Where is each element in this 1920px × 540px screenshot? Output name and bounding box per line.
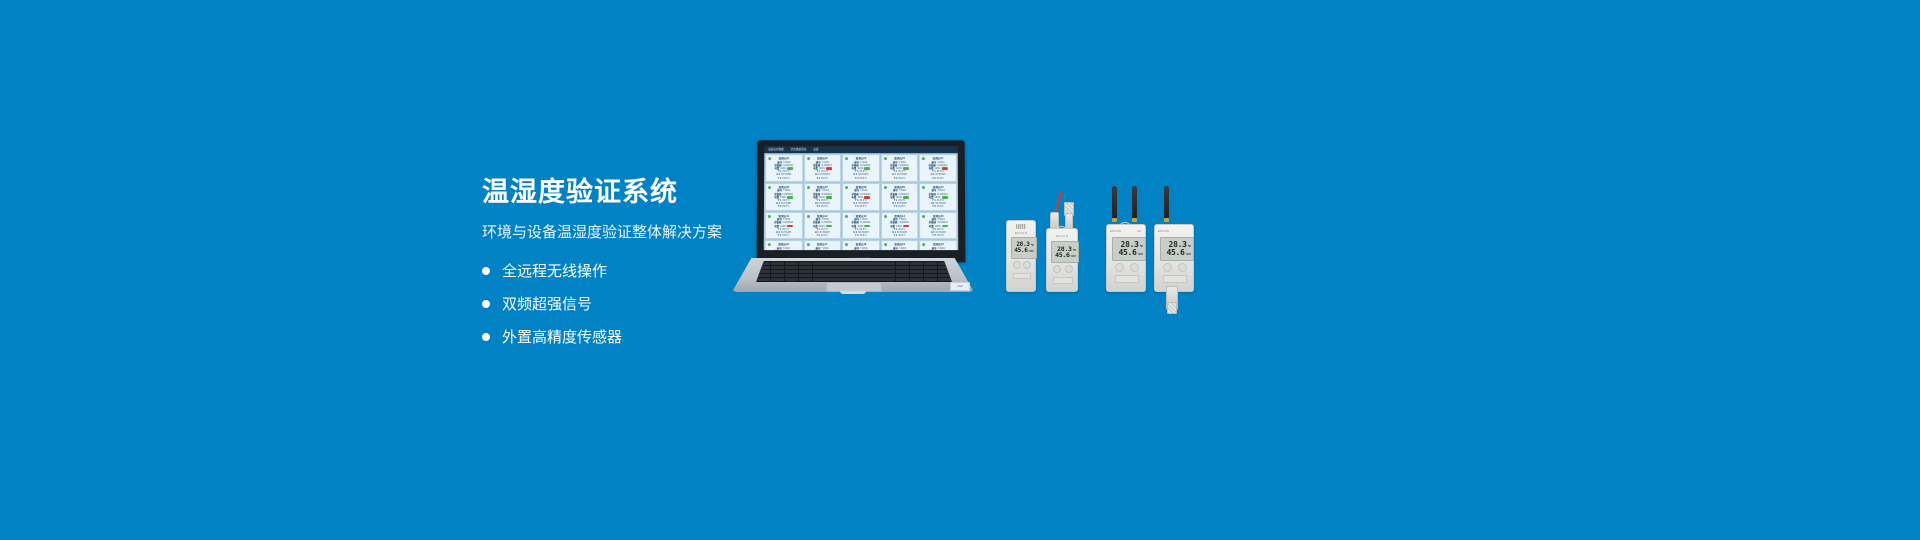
keyboard-key[interactable] [785,278,798,281]
bullet-dot-icon [482,300,490,308]
keyboard-key[interactable] [924,266,937,269]
monitor-card[interactable]: 监测点08编号T-0001采集器YL000001电量100%T 125.6℃H … [842,183,880,211]
monitor-card-key: T 2 [817,177,820,180]
keyboard-key[interactable] [924,270,937,273]
monitor-card[interactable]: 监测点15编号T-0001采集器YL000001电量100%T 125.6℃H … [919,212,957,240]
monitor-card[interactable]: 监测点10编号T-0001采集器YL000001电量100%T 125.6℃H … [919,183,957,211]
device-power-button[interactable] [1115,263,1124,272]
keyboard-key[interactable] [840,278,853,281]
monitor-card-row: T 225.8℃ [807,177,839,180]
antenna-right-icon [1132,186,1137,220]
device-power-button[interactable] [1053,265,1061,273]
device-mode-button[interactable] [1178,263,1187,272]
monitor-card-value: 25.8℃ [860,234,867,237]
status-dot-icon [884,215,887,218]
menu-item-settings[interactable]: 设置 [811,146,820,153]
device-brand-label: ENCON [1110,229,1121,233]
keyboard-key[interactable] [785,274,798,277]
keyboard-key[interactable] [868,266,881,269]
device-wireless-probe-body: ENCON 28.3 ℃ 45.6 %RH [1154,224,1194,292]
keyboard-key[interactable] [910,270,923,273]
monitor-card[interactable]: 监测点14编号T-0001采集器YL000001电量100%T 125.6℃H … [881,212,919,240]
keyboard-key[interactable] [771,274,784,277]
monitor-card-value: 25.8℃ [898,205,905,208]
keyboard-key[interactable] [799,262,812,265]
monitor-card-row: T 225.8℃ [922,177,954,180]
status-dot-icon [807,215,810,218]
status-dot-icon [884,157,887,160]
monitor-card-row: T 225.8℃ [768,177,800,180]
monitor-card[interactable]: 监测点07编号T-0001采集器YL000001电量100%T 125.6℃H … [804,183,842,211]
monitor-card-row: T 225.8℃ [922,205,954,208]
monitor-card[interactable]: 监测点11编号T-0001采集器YL000001电量100%T 125.6℃H … [765,212,803,240]
antenna-left-base [1112,218,1117,222]
device-model-label: A5 [1137,229,1141,233]
menu-item-history[interactable]: 历史数据查询 [789,146,809,153]
device-label-strip [1163,275,1187,283]
keyboard-key[interactable] [924,278,937,281]
laptop-screen: 设备实时数据 历史数据查询 设置 监测点01编号T-0001采集器YL00000… [764,146,959,250]
device-lcd-display: 28.3 ℃ 45.6 %RH [1160,237,1194,261]
keyboard-key[interactable] [910,274,923,277]
device-wireless-dual-body: ENCON A5 28.3 ℃ 45.6 %RH [1106,224,1146,292]
keyboard-key[interactable] [854,262,867,265]
monitor-card[interactable]: 监测点06编号T-0001采集器YL000001电量100%T 125.6℃H … [765,183,803,211]
lcd-humidity-unit: %RH [1186,253,1191,256]
keyboard-key[interactable] [924,274,937,277]
status-dot-icon [768,186,771,189]
monitor-card-key: T 2 [932,234,935,237]
keyboard-key[interactable] [854,266,867,269]
monitor-card[interactable]: 监测点03编号T-0001采集器YL000001电量100%T 125.6℃H … [842,154,880,182]
antenna-left-icon [1112,186,1117,220]
list-item: 外置高精度传感器 [482,330,902,345]
bullet-dot-icon [482,267,490,275]
monitor-card-key: T 2 [855,177,858,180]
monitor-card[interactable]: 监测点13编号T-0001采集器YL000001电量100%T 125.6℃H … [842,212,880,240]
status-dot-icon [768,157,771,160]
monitor-card-value: 25.8℃ [782,205,789,208]
keyboard-key[interactable] [896,266,909,269]
keyboard-key[interactable] [799,274,812,277]
monitor-card[interactable]: 监测点20编号T-0001采集器YL000001电量100%T 125.6℃H … [920,241,958,251]
lcd-humidity-unit: %RH [1029,250,1034,253]
monitor-card-row: T 225.8℃ [884,205,916,208]
monitor-card[interactable]: 监测点12编号T-0001采集器YL000001电量100%T 125.6℃H … [803,212,841,240]
device-lcd-display: 28.3 ℃ 45.6 %RH [1011,237,1037,259]
device-mode-button[interactable] [1130,263,1139,272]
keyboard-key[interactable] [799,266,812,269]
lcd-humidity-line: 45.6 %RH [1054,252,1076,259]
keyboard-key[interactable] [826,278,839,281]
keyboard-key[interactable] [785,266,798,269]
feature-label: 外置高精度传感器 [502,330,622,345]
status-dot-icon [768,215,771,218]
monitor-card-key: T 2 [932,205,935,208]
keyboard-key[interactable] [785,270,798,273]
lcd-temperature-unit: ℃ [1031,244,1034,247]
lcd-humidity-line: 45.6 %RH [1115,249,1143,257]
monitor-card[interactable]: 监测点18编号T-0001采集器YL000001电量100%T 125.6℃H … [842,241,880,251]
keyboard-key[interactable] [826,270,839,273]
monitor-card-key: T 2 [816,205,819,208]
monitor-card-value: 25.8℃ [782,177,789,180]
keyboard-key[interactable] [826,274,839,277]
keyboard-key[interactable] [910,278,923,281]
sensor-device-group: ENCON 28.3 ℃ 45.6 %RH E [1002,186,1222,306]
device-brand-label: ENCON [1158,229,1169,233]
keyboard-key[interactable] [799,278,812,281]
keyboard-key[interactable] [896,262,909,265]
device-lcd-display: 28.3 ℃ 45.6 %RH [1112,237,1146,261]
monitor-card-key: T 2 [894,234,897,237]
keyboard-key[interactable] [882,262,895,265]
status-dot-icon [845,186,848,189]
lcd-humidity-line: 45.6 %RH [1163,249,1191,257]
monitor-card[interactable]: 监测点17编号T-0001采集器YL000001电量100%T 125.6℃H … [803,241,841,251]
monitor-card-key: T 2 [778,205,781,208]
keyboard-key[interactable] [826,266,839,269]
monitor-card-value: 25.8℃ [860,205,867,208]
device-mode-button[interactable] [1023,261,1031,269]
laptop-base: intel [722,258,984,298]
monitor-card-row: T 225.8℃ [845,234,877,237]
feature-label: 双频超强信号 [502,297,592,312]
key-row [757,274,951,277]
device-power-button[interactable] [1163,263,1172,272]
monitor-card-value: 25.8℃ [782,234,789,237]
keyboard-key[interactable] [813,270,826,273]
probe-mesh-filter-icon [1167,302,1177,314]
keyboard-key[interactable] [785,262,798,265]
keyboard-key[interactable] [813,262,826,265]
antenna-base [1164,218,1169,222]
device-label-strip [1013,273,1031,279]
keyboard-key[interactable] [896,278,909,281]
laptop-hinge-notch [840,291,866,294]
monitor-card-row: T 225.8℃ [923,234,955,237]
monitor-card-key: T 2 [778,177,781,180]
key-row [757,270,951,273]
keyboard-key[interactable] [771,266,784,269]
monitor-card-grid: 监测点01编号T-0001采集器YL000001电量100%T 125.6℃H … [764,153,959,250]
keyboard-key[interactable] [840,262,853,265]
monitor-card-value: 25.8℃ [937,234,944,237]
monitor-card-value: 25.8℃ [860,177,867,180]
monitor-card-value: 25.8℃ [821,205,828,208]
status-dot-icon [884,186,887,189]
feature-label: 全远程无线操作 [502,264,607,279]
laptop-device: 设备实时数据 历史数据查询 设置 监测点01编号T-0001采集器YL00000… [722,140,984,300]
monitor-card-key: T 2 [855,234,858,237]
keyboard-key[interactable] [882,270,895,273]
vent-grille-icon [1016,224,1026,229]
device-lcd-display: 28.3 ℃ 45.6 %RH [1051,241,1079,263]
lcd-humidity-line: 45.6 %RH [1014,248,1034,254]
lcd-humidity-value: 45.6 [1167,249,1185,257]
monitor-card-row: T 225.8℃ [806,234,838,237]
monitor-card-key: T 2 [894,177,897,180]
monitor-card[interactable]: 监测点04编号T-0001采集器YL000001电量100%T 125.6℃H … [881,154,919,182]
monitor-card[interactable]: 监测点05编号T-0001采集器YL000001电量100%T 125.6℃H … [919,154,957,182]
keyboard-key[interactable] [813,278,826,281]
monitor-card-key: T 2 [816,234,819,237]
monitor-card-row: T 225.8℃ [845,177,877,180]
monitor-card[interactable]: 监测点02编号T-0001采集器YL000001电量100%T 125.6℃H … [804,154,842,182]
bullet-dot-icon [482,333,490,341]
keyboard-key[interactable] [799,270,812,273]
lcd-humidity-value: 45.6 [1014,248,1027,254]
keyboard-key[interactable] [882,266,895,269]
keyboard-key[interactable] [868,262,881,265]
lcd-humidity-unit: %RH [1138,253,1143,256]
keyboard-key[interactable] [882,274,895,277]
keyboard-key[interactable] [868,274,881,277]
status-dot-icon [845,215,848,218]
keyboard-key[interactable] [771,278,784,281]
keyboard-key[interactable] [854,270,867,273]
monitor-card-value: 25.8℃ [821,177,828,180]
lcd-humidity-value: 45.6 [1119,249,1137,257]
monitor-card-key: T 2 [778,234,781,237]
device-brand-label: ENCON [1007,231,1035,235]
monitor-card-value: 25.8℃ [937,205,944,208]
monitor-card-key: T 2 [855,205,858,208]
monitor-card-row: T 225.8℃ [768,205,800,208]
antenna-right-base [1132,218,1137,222]
monitor-card-row: T 225.8℃ [768,234,800,237]
keyboard-key[interactable] [910,262,923,265]
keyboard-key[interactable] [840,270,853,273]
device-logger-probe-body: ENCON 28.3 ℃ 45.6 %RH [1046,228,1078,292]
status-dot-icon [807,157,810,160]
keyboard-key[interactable] [854,278,867,281]
hero-banner: 温湿度验证系统 环境与设备温湿度验证整体解决方案 全远程无线操作 双频超强信号 … [0,0,1920,540]
keyboard-key[interactable] [938,274,951,277]
device-mode-button[interactable] [1065,265,1073,273]
monitor-card-row: T 225.8℃ [884,177,916,180]
keyboard-key[interactable] [938,278,951,281]
laptop-lid: 设备实时数据 历史数据查询 设置 监测点01编号T-0001采集器YL00000… [757,140,966,262]
device-label-strip [1053,277,1073,284]
keyboard-key[interactable] [854,274,867,277]
monitor-card-value: 25.8℃ [898,177,905,180]
monitor-card-value: 25.8℃ [937,177,944,180]
keyboard-key[interactable] [910,266,923,269]
keyboard-key[interactable] [882,278,895,281]
monitor-card[interactable]: 监测点01编号T-0001采集器YL000001电量100%T 125.6℃H … [765,154,803,182]
keyboard-key[interactable] [826,262,839,265]
monitor-card[interactable]: 监测点09编号T-0001采集器YL000001电量100%T 125.6℃H … [881,183,919,211]
device-label-strip [1115,275,1139,283]
key-row [757,278,951,281]
menu-item-realtime[interactable]: 设备实时数据 [766,146,786,153]
app-menubar: 设备实时数据 历史数据查询 设置 [764,146,957,153]
keyboard-key[interactable] [896,270,909,273]
device-power-button[interactable] [1013,261,1021,269]
keyboard-key[interactable] [896,274,909,277]
laptop-sticker: intel [950,282,970,291]
monitor-card-value: 25.8℃ [821,234,828,237]
keyboard-key[interactable] [924,262,937,265]
status-dot-icon [807,186,810,189]
keyboard-key[interactable] [868,278,881,281]
key-row [757,266,951,269]
keyboard-key[interactable] [757,278,770,281]
keyboard-key[interactable] [771,270,784,273]
antenna-icon [1164,186,1169,220]
monitor-card-row: T 225.8℃ [845,205,877,208]
lcd-humidity-unit: %RH [1071,255,1076,258]
monitor-card-key: T 2 [894,205,897,208]
monitor-card-value: 25.8℃ [898,234,905,237]
monitor-card-row: T 225.8℃ [807,205,839,208]
monitor-card[interactable]: 监测点19编号T-0001采集器YL000001电量100%T 125.6℃H … [881,241,919,251]
monitor-card[interactable]: 监测点16编号T-0001采集器YL000001电量100%T 125.6℃H … [765,241,803,251]
device-brand-label: ENCON [1047,234,1077,238]
monitor-card-key: T 2 [932,177,935,180]
keyboard-key[interactable] [813,274,826,277]
keyboard-key[interactable] [757,274,770,277]
keyboard-key[interactable] [868,270,881,273]
keyboard-key[interactable] [813,266,826,269]
keyboard-key[interactable] [840,266,853,269]
laptop-keyboard[interactable] [756,261,952,282]
monitor-card-row: T 225.8℃ [884,234,916,237]
lcd-temperature-unit: ℃ [1188,245,1191,248]
key-row [757,262,951,265]
keyboard-key[interactable] [840,274,853,277]
lcd-temperature-unit: ℃ [1140,245,1143,248]
lcd-humidity-value: 45.6 [1055,252,1069,259]
keyboard-key[interactable] [771,262,784,265]
device-logger-small: ENCON 28.3 ℃ 45.6 %RH [1006,220,1036,292]
